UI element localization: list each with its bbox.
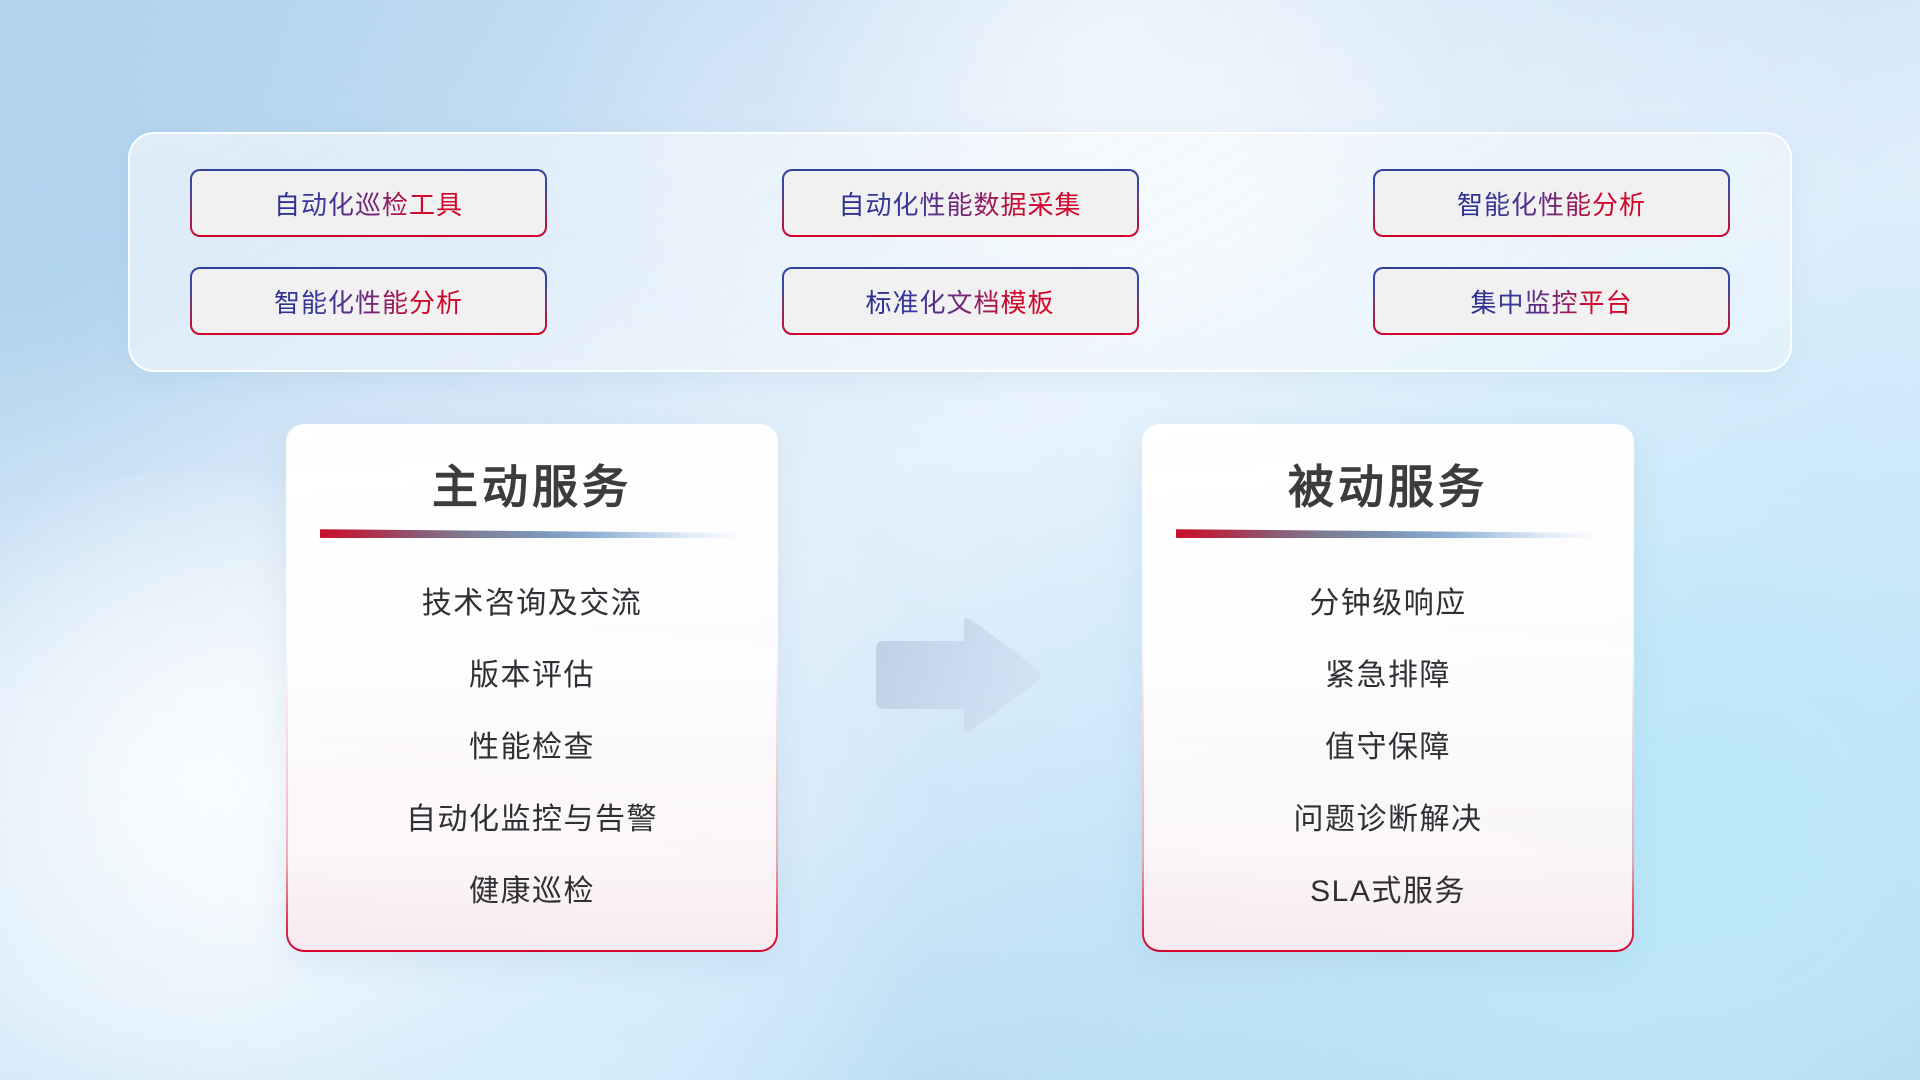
service-card-passive: 被动服务 分钟级响应 紧急排障 值守保障 问题诊断解决 SLA式服务 bbox=[1142, 424, 1634, 952]
right-arrow-icon bbox=[872, 616, 1042, 734]
tool-pill-label: 自动化性能数据采集 bbox=[838, 185, 1081, 222]
list-item[interactable]: SLA式服务 bbox=[1310, 856, 1466, 928]
pill-row-1: 自动化巡检工具 自动化性能数据采集 智能化性能分析 bbox=[190, 169, 1730, 237]
tool-pill-label: 集中监控平台 bbox=[1470, 283, 1632, 320]
tool-pill-intelligent-perf-analysis-2[interactable]: 智能化性能分析 bbox=[190, 267, 547, 335]
card-divider-bar bbox=[320, 529, 744, 538]
tool-pill-automated-perf-collection[interactable]: 自动化性能数据采集 bbox=[782, 169, 1139, 237]
card-divider-bar bbox=[1176, 529, 1600, 538]
list-item[interactable]: 技术咨询及交流 bbox=[422, 568, 643, 640]
right-arrow-glyph bbox=[872, 616, 1042, 734]
tool-pill-label: 标准化文档模板 bbox=[865, 283, 1054, 320]
list-item[interactable]: 分钟级响应 bbox=[1309, 568, 1467, 640]
list-item[interactable]: 问题诊断解决 bbox=[1294, 784, 1483, 856]
service-list-active: 技术咨询及交流 版本评估 性能检查 自动化监控与告警 健康巡检 bbox=[290, 568, 774, 928]
list-item[interactable]: 值守保障 bbox=[1325, 712, 1451, 784]
list-item[interactable]: 性能检查 bbox=[469, 712, 595, 784]
card-divider bbox=[1176, 529, 1600, 538]
tool-pill-label: 智能化性能分析 bbox=[1457, 185, 1646, 222]
tool-pill-label: 自动化巡检工具 bbox=[274, 185, 463, 222]
capability-tools-panel: 自动化巡检工具 自动化性能数据采集 智能化性能分析 智能化性能分析 标准化文档模… bbox=[128, 132, 1792, 372]
list-item[interactable]: 自动化监控与告警 bbox=[406, 784, 658, 856]
card-divider bbox=[320, 529, 744, 538]
tool-pill-automated-inspection[interactable]: 自动化巡检工具 bbox=[190, 169, 547, 237]
card-title-active: 主动服务 bbox=[432, 460, 632, 515]
tool-pill-standard-doc-template[interactable]: 标准化文档模板 bbox=[782, 267, 1139, 335]
infographic-canvas: 自动化巡检工具 自动化性能数据采集 智能化性能分析 智能化性能分析 标准化文档模… bbox=[0, 0, 1920, 1080]
service-card-active: 主动服务 技术咨询及交流 版本评估 性能检查 自动化监控与告警 健康巡检 bbox=[286, 424, 778, 952]
list-item[interactable]: 版本评估 bbox=[469, 640, 595, 712]
tool-pill-centralized-monitoring[interactable]: 集中监控平台 bbox=[1373, 267, 1730, 335]
card-title-passive: 被动服务 bbox=[1288, 460, 1488, 515]
card-content: 被动服务 分钟级响应 紧急排障 值守保障 问题诊断解决 SLA式服务 bbox=[1146, 428, 1630, 948]
list-item[interactable]: 紧急排障 bbox=[1325, 640, 1451, 712]
tool-pill-intelligent-perf-analysis[interactable]: 智能化性能分析 bbox=[1373, 169, 1730, 237]
service-list-passive: 分钟级响应 紧急排障 值守保障 问题诊断解决 SLA式服务 bbox=[1146, 568, 1630, 928]
tool-pill-label: 智能化性能分析 bbox=[274, 283, 463, 320]
card-content: 主动服务 技术咨询及交流 版本评估 性能检查 自动化监控与告警 健康巡检 bbox=[290, 428, 774, 948]
list-item[interactable]: 健康巡检 bbox=[469, 856, 595, 928]
pill-row-2: 智能化性能分析 标准化文档模板 集中监控平台 bbox=[190, 267, 1730, 335]
